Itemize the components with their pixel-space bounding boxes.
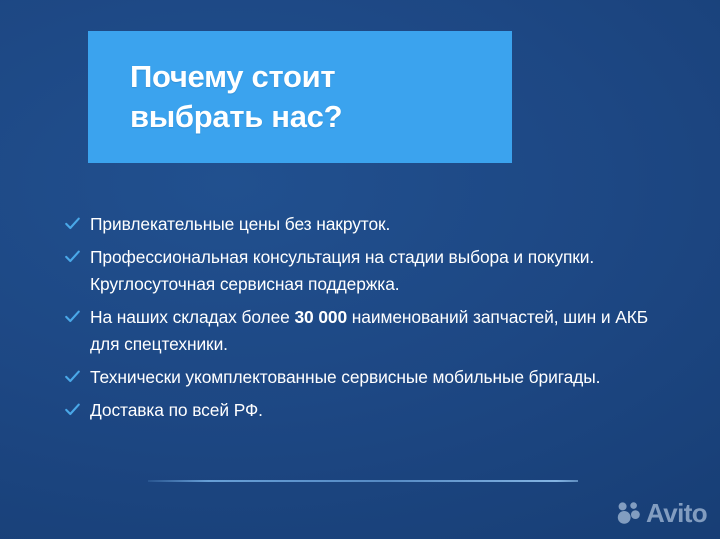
list-item-label: Профессиональная консультация на стадии … bbox=[90, 244, 662, 298]
avito-dots-icon bbox=[616, 500, 642, 526]
list-item: На наших складах более 30 000 наименован… bbox=[62, 304, 662, 358]
check-icon bbox=[64, 401, 81, 418]
page-title: Почему стоит выбрать нас? bbox=[88, 57, 342, 136]
list-item-label: Технически укомплектованные сервисные мо… bbox=[90, 364, 662, 391]
avito-watermark: Avito bbox=[616, 496, 707, 530]
list-item: Доставка по всей РФ. bbox=[62, 397, 662, 424]
check-icon bbox=[64, 215, 81, 232]
list-item-label: Привлекательные цены без накруток. bbox=[90, 211, 662, 238]
avito-wordmark: Avito bbox=[646, 500, 707, 526]
divider bbox=[148, 480, 578, 482]
list-item: Технически укомплектованные сервисные мо… bbox=[62, 364, 662, 391]
benefits-list: Привлекательные цены без накруток.Профес… bbox=[62, 211, 662, 424]
slide-canvas: Почему стоит выбрать нас? Привлекательны… bbox=[0, 0, 720, 539]
check-icon bbox=[64, 308, 81, 325]
check-icon bbox=[64, 248, 81, 265]
check-icon bbox=[64, 368, 81, 385]
list-item-label: На наших складах более 30 000 наименован… bbox=[90, 304, 662, 358]
list-item-label: Доставка по всей РФ. bbox=[90, 397, 662, 424]
list-item: Профессиональная консультация на стадии … bbox=[62, 244, 662, 298]
list-item: Привлекательные цены без накруток. bbox=[62, 211, 662, 238]
title-panel: Почему стоит выбрать нас? bbox=[88, 31, 512, 163]
